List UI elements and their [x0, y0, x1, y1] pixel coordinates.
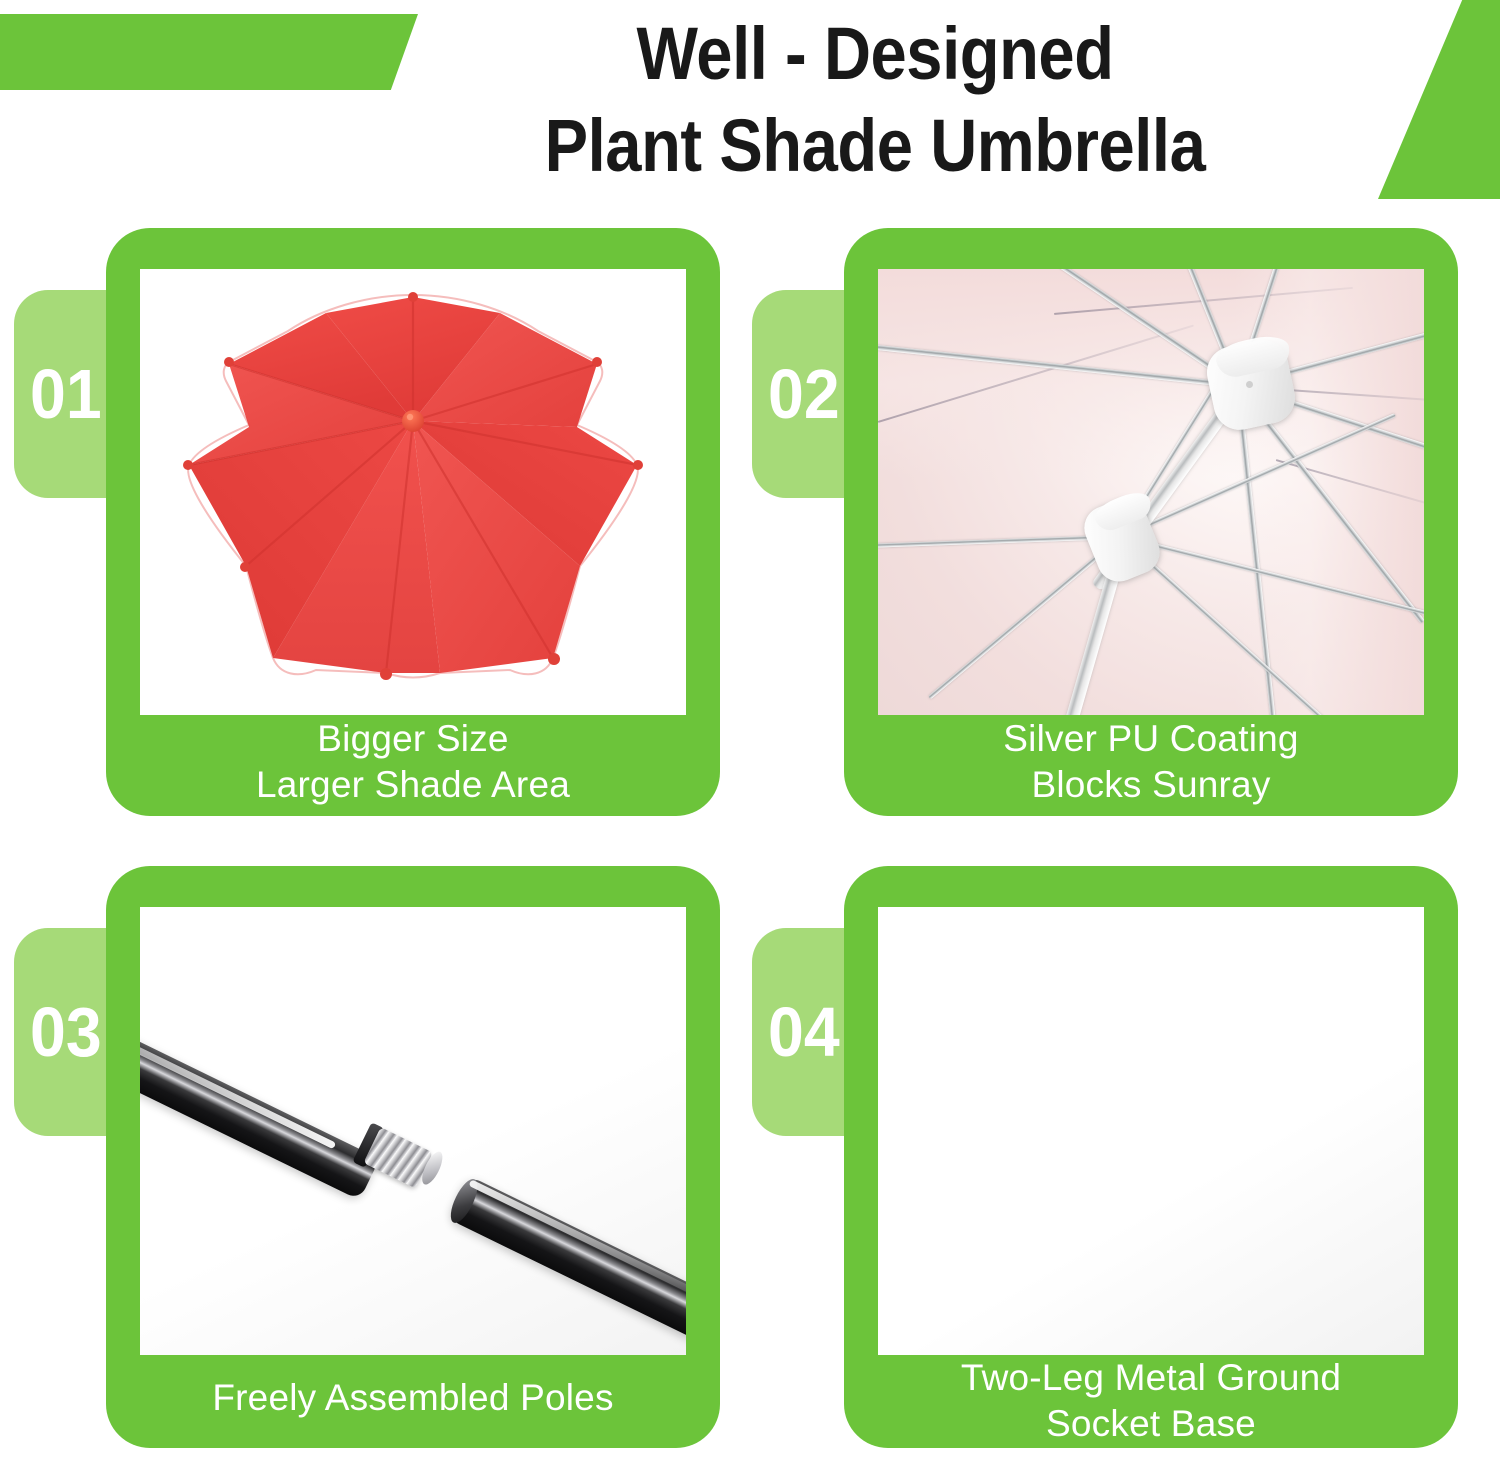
card-body-01: Bigger Size Larger Shade Area	[106, 228, 720, 816]
card-caption-02-line-2: Blocks Sunray	[1003, 762, 1298, 808]
card-body-04: Two-Leg Metal Ground Socket Base	[844, 866, 1458, 1448]
card-caption-04-line-1: Two-Leg Metal Ground	[961, 1357, 1341, 1398]
card-number-label-02: 02	[768, 359, 840, 429]
photo-backdrop	[878, 907, 1424, 1355]
card-caption-02: Silver PU Coating Blocks Sunray	[844, 715, 1458, 816]
card-caption-04: Two-Leg Metal Ground Socket Base	[844, 1355, 1458, 1455]
umbrella-hub-pin	[1246, 381, 1253, 388]
feature-card-grid: 01	[0, 0, 1500, 1458]
card-caption-01-line-1: Bigger Size	[317, 718, 508, 759]
card-caption-03: Freely Assembled Poles	[106, 1355, 720, 1448]
card-caption-03-line-1: Freely Assembled Poles	[212, 1377, 613, 1418]
feature-card-04: 04	[752, 866, 1458, 1448]
feature-card-01: 01	[14, 228, 720, 816]
red-umbrella-icon	[140, 269, 686, 715]
card-number-label-01: 01	[30, 359, 102, 429]
feature-card-03: 03 Freely Ass	[14, 866, 720, 1448]
card-caption-04-line-2: Socket Base	[961, 1401, 1341, 1447]
card-caption-02-line-1: Silver PU Coating	[1003, 718, 1298, 759]
card-caption-01-line-2: Larger Shade Area	[256, 762, 570, 808]
card-number-label-03: 03	[30, 997, 102, 1067]
card-photo-02-umbrella-underside	[878, 269, 1424, 715]
card-photo-01-red-umbrella	[140, 269, 686, 715]
feature-card-02: 02	[752, 228, 1458, 816]
card-number-label-04: 04	[768, 997, 840, 1067]
card-body-02: Silver PU Coating Blocks Sunray	[844, 228, 1458, 816]
card-photo-04-ground-stake	[878, 907, 1424, 1355]
card-caption-01: Bigger Size Larger Shade Area	[106, 715, 720, 816]
card-photo-03-poles	[140, 907, 686, 1355]
card-body-03: Freely Assembled Poles	[106, 866, 720, 1448]
